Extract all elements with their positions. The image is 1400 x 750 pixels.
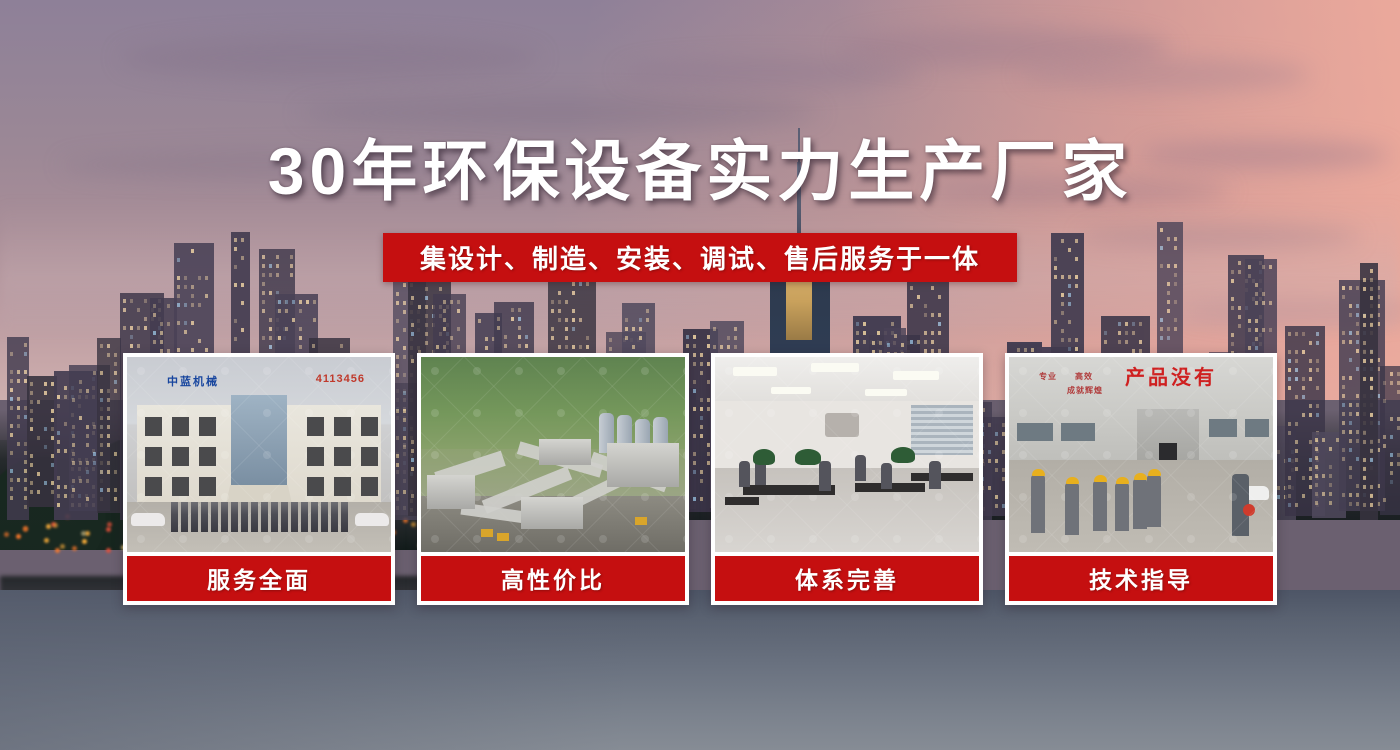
building-window (10, 352, 13, 356)
building-window (565, 318, 568, 322)
building-window (1390, 462, 1393, 466)
building-window (1277, 450, 1280, 454)
facade-window (334, 417, 351, 436)
building-window (1068, 347, 1071, 351)
building-window (425, 305, 428, 309)
building-window (639, 327, 642, 331)
building-window (167, 304, 170, 308)
building-window (1309, 404, 1312, 408)
building-window (1262, 301, 1265, 305)
building-window (114, 470, 117, 474)
safety-helmet (1094, 475, 1107, 482)
building-window (551, 327, 554, 331)
shore-light (72, 546, 77, 551)
building-window (262, 255, 265, 259)
building-window (1316, 404, 1319, 408)
card-caption: 体系完善 (715, 556, 979, 601)
building-window (411, 296, 414, 300)
building-window (290, 264, 293, 268)
watermark-dot (683, 535, 685, 543)
building-window (565, 336, 568, 340)
building-window (1167, 282, 1170, 286)
building-window (572, 345, 575, 349)
building-window (1322, 438, 1325, 442)
staff-figure (221, 502, 228, 532)
building-window (107, 461, 110, 465)
building-window (1255, 319, 1258, 323)
building-window (625, 327, 628, 331)
building-window (1370, 386, 1373, 390)
building-window (1288, 386, 1291, 390)
building-window (924, 304, 927, 308)
building-window (130, 299, 133, 303)
building-window (262, 273, 265, 277)
watermark-dot (935, 409, 943, 417)
facade-window (361, 417, 378, 436)
watermark-dot (1271, 451, 1273, 459)
building-window (727, 345, 730, 349)
card-photo-office-building: 中蓝机械 4113456 (127, 357, 391, 552)
building-window (241, 256, 244, 260)
building-window (1342, 340, 1345, 344)
building-window (114, 380, 117, 384)
building-window (241, 328, 244, 332)
building-window (57, 494, 60, 498)
watermark-dot (977, 409, 979, 417)
watermark-dot (1103, 451, 1111, 459)
building-window (1068, 320, 1071, 324)
facade-window (172, 417, 189, 436)
building-window (1316, 332, 1319, 336)
plant-building (607, 443, 679, 487)
watermark-dot (725, 451, 733, 459)
building-window (17, 415, 20, 419)
watermark-dot (305, 367, 313, 375)
watermark-dot (1145, 367, 1153, 375)
building-window (478, 319, 481, 323)
building-window (79, 416, 82, 420)
ceiling-light (811, 363, 859, 372)
building-window (1315, 438, 1318, 442)
building-window (1363, 341, 1366, 345)
building-window (1315, 456, 1318, 460)
building-window (198, 339, 201, 343)
building-window (1125, 340, 1128, 344)
watermark-dot (1103, 535, 1111, 543)
building-window (57, 485, 60, 489)
building-window (1363, 467, 1366, 471)
building-window (1238, 315, 1241, 319)
building-window (100, 470, 103, 474)
building-window (30, 409, 33, 413)
building-window (572, 327, 575, 331)
building-window (1316, 359, 1319, 363)
building-window (107, 416, 110, 420)
building-window (299, 309, 302, 313)
building-window (558, 300, 561, 304)
building-window (425, 332, 428, 336)
building-window (632, 327, 635, 331)
parked-car (355, 513, 389, 526)
building-window (153, 304, 156, 308)
feature-card[interactable]: 体系完善 (711, 353, 983, 605)
building-window (1370, 314, 1373, 318)
building-window (285, 327, 288, 331)
building-window (1255, 337, 1258, 341)
building-window (1068, 293, 1071, 297)
building-window (262, 336, 265, 340)
building-window (1255, 301, 1258, 305)
building-window (269, 291, 272, 295)
building-window (144, 317, 147, 321)
building-window (1160, 264, 1163, 268)
building-window (713, 327, 716, 331)
building-window (100, 416, 103, 420)
watermark-dot (515, 367, 523, 375)
building-window (1390, 471, 1393, 475)
worker-figure (1065, 483, 1079, 535)
building-window (30, 391, 33, 395)
building-window (107, 443, 110, 447)
feature-card[interactable]: 高性价比 (417, 353, 689, 605)
building-window (276, 255, 279, 259)
factory-window (1245, 419, 1269, 437)
building-window (1167, 264, 1170, 268)
building-window (177, 321, 180, 325)
staff-figure (331, 502, 338, 532)
building-window (1315, 483, 1318, 487)
building-window (278, 309, 281, 313)
building-window (1132, 322, 1135, 326)
watermark-dot (893, 493, 901, 501)
building-window (167, 322, 170, 326)
staff-figure (181, 502, 188, 532)
building-window (107, 470, 110, 474)
building-window (586, 336, 589, 340)
building-window (856, 331, 859, 335)
building-window (1231, 297, 1234, 301)
building-window (1068, 302, 1071, 306)
building-window (290, 255, 293, 259)
building-window (177, 258, 180, 262)
building-window (1255, 328, 1258, 332)
building-window (17, 379, 20, 383)
plant-building (521, 497, 583, 529)
feature-card[interactable]: 产品没有 专业 高效 成就辉煌 技术指导 (1005, 353, 1277, 605)
watermark-dot (389, 451, 391, 459)
building-window (1342, 385, 1345, 389)
building-window (1174, 237, 1177, 241)
watermark-dot (935, 451, 943, 459)
building-window (184, 276, 187, 280)
building-window (931, 313, 934, 317)
building-window (609, 347, 612, 351)
building-window (285, 300, 288, 304)
building-window (10, 406, 13, 410)
potted-plant (795, 449, 821, 465)
watermark-dot (515, 535, 523, 543)
building-window (910, 304, 913, 308)
watermark-dot (1229, 367, 1237, 375)
watermark-dot (1229, 493, 1237, 501)
building-window (1174, 327, 1177, 331)
building-window (64, 422, 67, 426)
staff-figure (251, 502, 258, 532)
watermark-dot (263, 451, 271, 459)
watermark-dot (221, 409, 229, 417)
building-window (1342, 403, 1345, 407)
watermark-dot (1103, 409, 1111, 417)
building-window (313, 300, 316, 304)
shore-light (106, 527, 111, 532)
building-window (1167, 291, 1170, 295)
building-window (1356, 457, 1359, 461)
building-window (450, 336, 453, 340)
shore-light (82, 539, 87, 544)
building-window (511, 317, 514, 321)
building-window (1370, 287, 1373, 291)
building-window (86, 497, 89, 501)
building-window (79, 380, 82, 384)
building-window (17, 478, 20, 482)
staff-figure (241, 502, 248, 532)
building-window (1315, 447, 1318, 451)
building-window (572, 291, 575, 295)
building-window (1370, 494, 1373, 498)
building-window (37, 472, 40, 476)
building-window (646, 318, 649, 322)
building-window (57, 449, 60, 453)
facade-window (145, 447, 162, 466)
building-window (403, 346, 406, 350)
building-window (1295, 422, 1298, 426)
building-window (137, 308, 140, 312)
building-window (1342, 457, 1345, 461)
building-window (1231, 270, 1234, 274)
building-window (107, 353, 110, 357)
building-window (558, 345, 561, 349)
building-window (1118, 322, 1121, 326)
building-window (37, 490, 40, 494)
watermark-dot (431, 451, 439, 459)
building-window (10, 370, 13, 374)
building-window (1315, 465, 1318, 469)
building-window (1370, 269, 1373, 273)
building-window (1356, 367, 1359, 371)
building-window (137, 344, 140, 348)
building-window (299, 300, 302, 304)
building-window (1316, 413, 1319, 417)
building-window (1174, 273, 1177, 277)
building-window (234, 319, 237, 323)
building-window (1302, 494, 1305, 498)
office-staff-figure (819, 461, 831, 491)
building-window (1356, 493, 1359, 497)
building-window (130, 335, 133, 339)
watermark-dot (641, 367, 649, 375)
building-window (1174, 300, 1177, 304)
building-window (292, 300, 295, 304)
building-window (1316, 386, 1319, 390)
building-window (938, 313, 941, 317)
building-window (910, 286, 913, 290)
building-window (1231, 342, 1234, 346)
building-window (1370, 503, 1373, 507)
building-window (234, 265, 237, 269)
watermark-dot (1061, 367, 1069, 375)
building-window (1295, 368, 1298, 372)
building-window (1349, 358, 1352, 362)
building-window (579, 345, 582, 349)
watermark-dot (347, 409, 355, 417)
building-window (396, 292, 399, 296)
building-window (910, 340, 913, 344)
building-window (114, 497, 117, 501)
building-window (872, 341, 875, 345)
building-window (1288, 377, 1291, 381)
staff-figure (341, 502, 348, 532)
building-window (100, 434, 103, 438)
subtitle-text: 集设计、制造、安装、调试、售后服务于一体 (420, 239, 980, 276)
building-window (1288, 476, 1291, 480)
building-window (64, 494, 67, 498)
watermark-dot (221, 493, 229, 501)
building-window (1363, 485, 1366, 489)
watermark-dot (473, 409, 481, 417)
building-window (144, 299, 147, 303)
building-window (205, 294, 208, 298)
building-window (30, 382, 33, 386)
building-window (114, 488, 117, 492)
building-window (290, 273, 293, 277)
building-window (24, 352, 27, 356)
building-window (1356, 340, 1359, 344)
building-window (1288, 350, 1291, 354)
building-window (123, 308, 126, 312)
watermark-dot (977, 535, 979, 543)
building-window (100, 398, 103, 402)
building-window (198, 276, 201, 280)
card-caption: 技术指导 (1009, 556, 1273, 601)
building-window (1061, 239, 1064, 243)
plant-building (539, 439, 591, 465)
watermark-dot (1271, 367, 1273, 375)
watermark-dot (725, 367, 733, 375)
building-window (100, 389, 103, 393)
watermark-dot (1145, 409, 1153, 417)
watermark-dot (1061, 451, 1069, 459)
building-window (234, 238, 237, 242)
building-window (1356, 403, 1359, 407)
water-reflection (0, 590, 1400, 750)
building-window (1363, 359, 1366, 363)
building-window (1068, 248, 1071, 252)
watermark-dot (683, 451, 685, 459)
building-window (924, 331, 927, 335)
office-staff-figure (929, 461, 941, 489)
building-window (1370, 458, 1373, 462)
building-window (720, 345, 723, 349)
building-window (1316, 341, 1319, 345)
building-window (10, 397, 13, 401)
factory-window (1017, 423, 1053, 441)
building-window (1269, 328, 1272, 332)
building-window (191, 321, 194, 325)
building-window (1349, 304, 1352, 308)
watermark-dot (1061, 409, 1069, 417)
building-window (153, 331, 156, 335)
building-window (1329, 474, 1332, 478)
feature-card-list: 中蓝机械 4113456 服务全面 高性价比 (123, 353, 1277, 605)
building-window (396, 337, 399, 341)
building-window (107, 488, 110, 492)
building-window (114, 353, 117, 357)
facade-window (199, 447, 216, 466)
building-window (306, 300, 309, 304)
building-window (1248, 265, 1251, 269)
building-window (10, 496, 13, 500)
building-window (443, 300, 446, 304)
building-window (114, 371, 117, 375)
staff-figure (201, 502, 208, 532)
building-window (1370, 449, 1373, 453)
watermark-dot (767, 535, 775, 543)
building-window (1390, 435, 1393, 439)
watermark-dot (641, 409, 649, 417)
building-window (713, 345, 716, 349)
building-window (10, 388, 13, 392)
building-window (1363, 431, 1366, 435)
building (7, 337, 29, 520)
building-window (269, 318, 272, 322)
building-window (1295, 350, 1298, 354)
building-window (403, 328, 406, 332)
building-window (17, 370, 20, 374)
ceiling-light (865, 389, 907, 396)
building-window (1390, 372, 1393, 376)
feature-card[interactable]: 中蓝机械 4113456 服务全面 (123, 353, 395, 605)
building-window (504, 335, 507, 339)
building-window (1390, 480, 1393, 484)
building-window (396, 301, 399, 305)
building-window (1269, 265, 1272, 269)
building-window (107, 344, 110, 348)
building-window (177, 276, 180, 280)
watermark-dot (305, 535, 313, 543)
building-window (485, 337, 488, 341)
building-window (1356, 331, 1359, 335)
building-window (100, 488, 103, 492)
building-window (184, 330, 187, 334)
watermark-dot (347, 535, 355, 543)
watermark-dot (1187, 367, 1195, 375)
building-window (191, 294, 194, 298)
building-window (72, 398, 75, 402)
building-window (443, 309, 446, 313)
building-window (86, 470, 89, 474)
staff-figure (291, 502, 298, 532)
watermark-dot (809, 409, 817, 417)
building-window (269, 336, 272, 340)
building-window (639, 318, 642, 322)
building-window (425, 323, 428, 327)
building-window (1174, 282, 1177, 286)
watermark-dot (1145, 535, 1153, 543)
building-window (1248, 346, 1251, 350)
building-window (1295, 377, 1298, 381)
building-window (1061, 329, 1064, 333)
building-window (1118, 331, 1121, 335)
